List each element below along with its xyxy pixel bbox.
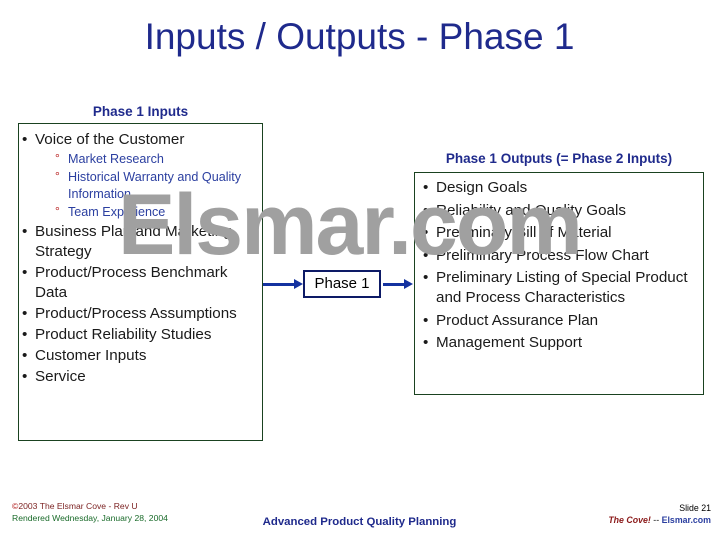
list-item-label: Product/Process Assumptions [35,305,237,322]
arrow-inputs-to-phase [263,283,295,286]
inputs-heading: Phase 1 Inputs [18,104,263,119]
copyright-line: ©2003 The Elsmar Cove - Rev U [12,501,168,513]
list-item: •Service [19,367,259,387]
list-item-label: Preliminary Process Flow Chart [436,247,649,264]
sub-list: °Market Research °Historical Warranty an… [35,151,259,221]
page-title: Inputs / Outputs - Phase 1 [0,16,719,58]
list-item-label: Historical Warranty and Quality Informat… [68,170,241,202]
footer-attribution: The Cove! -- Elsmar.com [608,514,711,526]
list-item: °Market Research [53,151,259,169]
list-item-label: Market Research [68,152,164,166]
bullet-icon: • [423,246,428,266]
copyright-text: 2003 The Elsmar Cove - Rev U [18,501,137,511]
phase-1-process-box: Phase 1 [303,270,381,298]
list-item: •Voice of the Customer °Market Research … [19,130,259,221]
list-item: •Preliminary Bill of Material [418,223,698,243]
bullet-icon: • [22,304,27,324]
bullet-icon: • [22,325,27,345]
list-item: •Product/Process Benchmark Data [19,263,259,303]
bullet-icon: • [423,201,428,221]
bullet-icon: • [22,222,27,242]
list-item: •Management Support [418,333,698,353]
list-item-label: Product/Process Benchmark Data [35,264,227,301]
list-item-label: Product Assurance Plan [436,312,598,329]
bullet-icon: • [22,367,27,387]
slide-canvas: Inputs / Outputs - Phase 1 Elsmar.com Ph… [0,0,719,539]
elsmar-link[interactable]: Elsmar.com [662,515,711,525]
bullet-icon: • [423,268,428,288]
slide-number: Slide 21 [608,502,711,514]
bullet-icon: • [22,263,27,283]
list-item: °Historical Warranty and Quality Informa… [53,169,259,204]
list-item: •Preliminary Listing of Special Product … [418,268,698,308]
sub-bullet-icon: ° [55,203,60,221]
list-item: •Reliability and Quality Goals [418,201,698,221]
list-item-label: Reliability and Quality Goals [436,202,626,219]
sub-bullet-icon: ° [55,150,60,168]
outputs-list: •Design Goals •Reliability and Quality G… [418,178,698,356]
list-item-label: Preliminary Bill of Material [436,224,612,241]
footer-right: Slide 21 The Cove! -- Elsmar.com [608,502,711,526]
bullet-icon: • [423,333,428,353]
list-item-label: Voice of the Customer [35,131,184,148]
list-item: •Customer Inputs [19,346,259,366]
list-item: •Business Plan and Marketing Strategy [19,222,259,262]
list-item: •Product Assurance Plan [418,311,698,331]
list-item: •Design Goals [418,178,698,198]
list-item-label: Business Plan and Marketing Strategy [35,223,232,260]
list-item: •Product/Process Assumptions [19,304,259,324]
outputs-heading: Phase 1 Outputs (= Phase 2 Inputs) [414,151,704,166]
footer-separator: -- [653,515,659,525]
inputs-list: •Voice of the Customer °Market Research … [19,130,259,388]
list-item: °Team Experience [53,204,259,222]
bullet-icon: • [22,346,27,366]
list-item-label: Team Experience [68,205,165,219]
bullet-icon: • [423,178,428,198]
list-item-label: Design Goals [436,179,527,196]
list-item-label: Preliminary Listing of Special Product a… [436,269,688,306]
list-item: •Product Reliability Studies [19,325,259,345]
list-item-label: Service [35,368,86,385]
list-item: •Preliminary Process Flow Chart [418,246,698,266]
cove-name: The Cove! [608,515,651,525]
list-item-label: Customer Inputs [35,347,146,364]
list-item-label: Product Reliability Studies [35,326,211,343]
bullet-icon: • [423,311,428,331]
bullet-icon: • [22,130,27,150]
arrow-phase-to-outputs [383,283,405,286]
sub-bullet-icon: ° [55,168,60,186]
bullet-icon: • [423,223,428,243]
list-item-label: Management Support [436,334,582,351]
